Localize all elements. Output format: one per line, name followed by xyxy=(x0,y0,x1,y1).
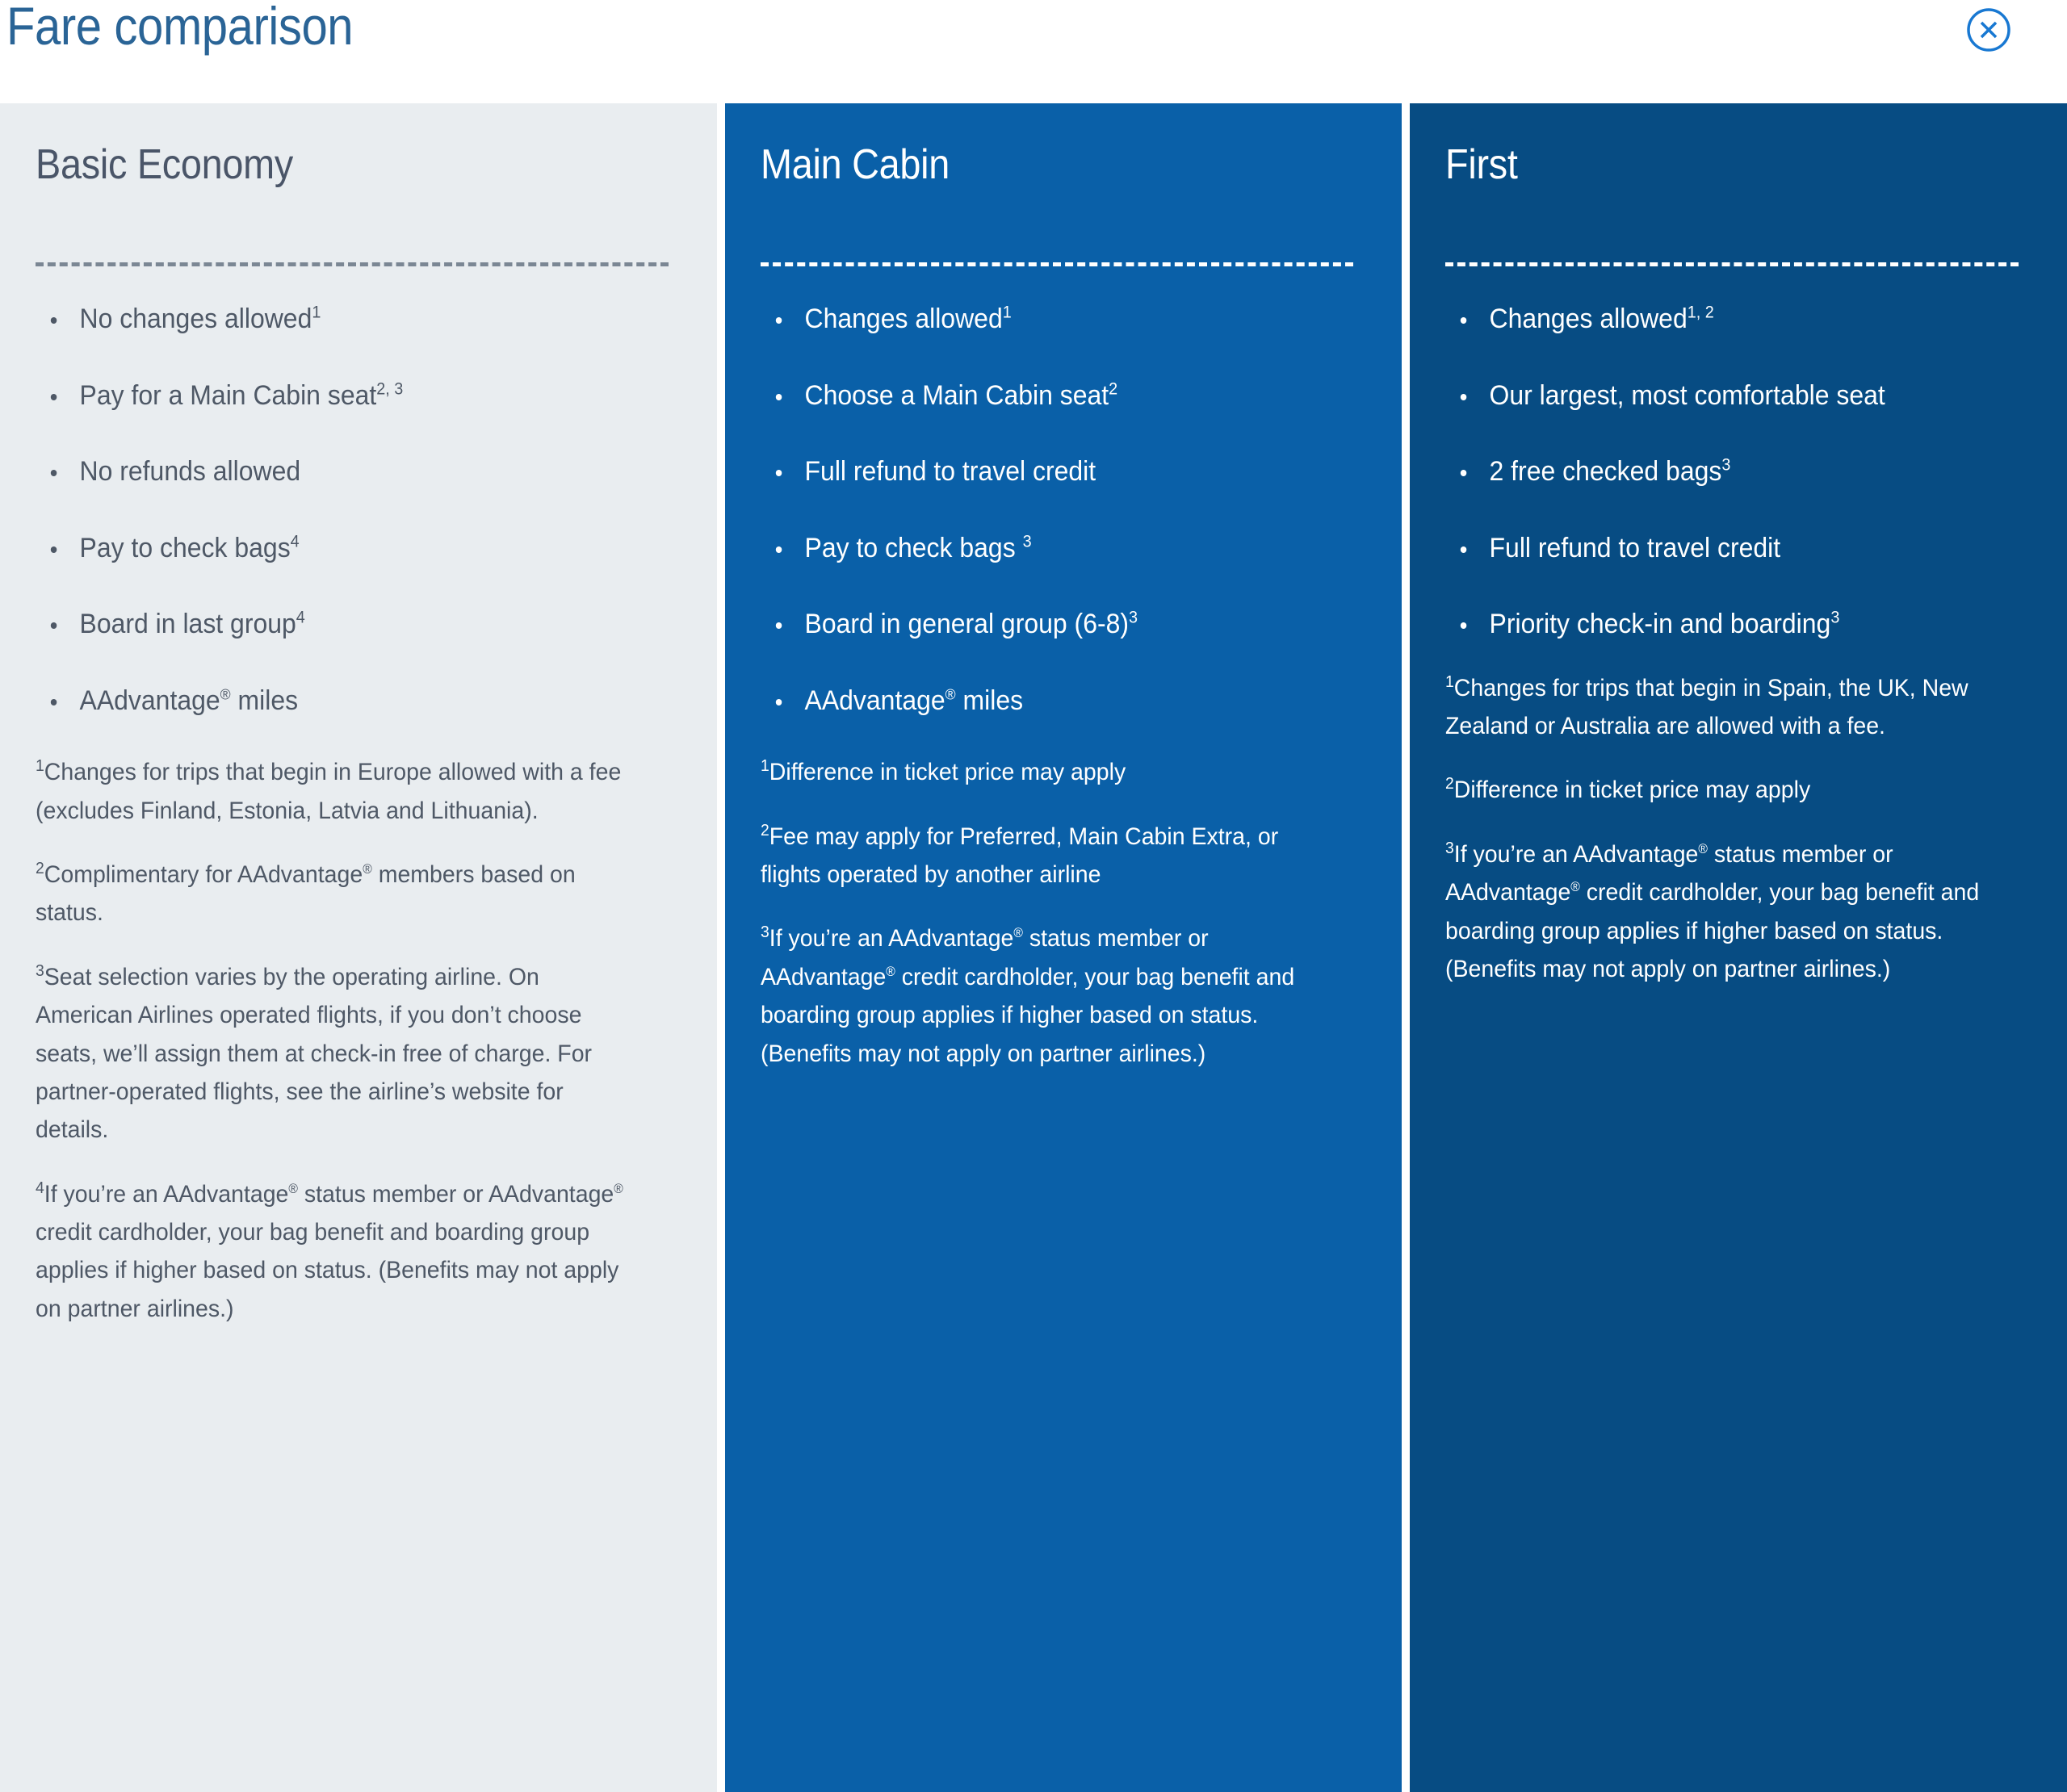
list-item: Changes allowed1, 2 xyxy=(1445,302,1984,337)
fare-column-title-basic-economy: Basic Economy xyxy=(36,142,606,188)
list-item: Choose a Main Cabin seat2 xyxy=(761,379,1318,413)
page-title: Fare comparison xyxy=(6,0,353,56)
footnote-marker: 3 xyxy=(1129,609,1138,627)
footnote-marker: 4 xyxy=(291,532,300,551)
list-item: AAdvantage® miles xyxy=(761,684,1318,718)
column-divider-first xyxy=(1445,262,2019,266)
footnote-marker: 3 xyxy=(1830,609,1839,627)
footnote-marker: 3 xyxy=(36,962,44,980)
list-item: No refunds allowed xyxy=(36,454,631,489)
footnote: 3Seat selection varies by the operating … xyxy=(36,958,637,1149)
list-item: No changes allowed1 xyxy=(36,302,631,337)
footnote-marker: 2 xyxy=(36,860,44,877)
footnote-marker: 2 xyxy=(1109,379,1117,398)
footnote: 3If you’re an AAdvantage® status member … xyxy=(761,919,1323,1073)
footnote-list-first: 1Changes for trips that begin in Spain, … xyxy=(1445,669,2019,989)
footnote: 4If you’re an AAdvantage® status member … xyxy=(36,1175,637,1329)
footnote: 1Changes for trips that begin in Spain, … xyxy=(1445,669,1990,746)
benefit-list-main-cabin: Changes allowed1 Choose a Main Cabin sea… xyxy=(761,302,1353,718)
list-item: Full refund to travel credit xyxy=(761,454,1318,489)
list-item: Our largest, most comfortable seat xyxy=(1445,379,1984,413)
footnote-marker: 4 xyxy=(296,609,305,627)
fare-column-first: First Changes allowed1, 2 Our largest, m… xyxy=(1410,103,2067,1792)
fare-comparison-modal: Fare comparison Basic Economy No changes… xyxy=(0,0,2067,1792)
footnote-marker: 1 xyxy=(312,304,321,322)
list-item: AAdvantage® miles xyxy=(36,684,631,718)
modal-header: Fare comparison xyxy=(0,0,2067,103)
list-item: Changes allowed1 xyxy=(761,302,1318,337)
footnote-list-main-cabin: 1Difference in ticket price may apply 2F… xyxy=(761,753,1353,1073)
footnote-marker: 1 xyxy=(1445,673,1454,691)
footnote: 1Changes for trips that begin in Europe … xyxy=(36,753,637,830)
column-divider-basic-economy xyxy=(36,262,669,266)
footnote: 2Complimentary for AAdvantage® members b… xyxy=(36,856,637,932)
list-item: Full refund to travel credit xyxy=(1445,531,1984,566)
close-button[interactable] xyxy=(1965,6,2012,53)
fare-column-main-cabin: Main Cabin Changes allowed1 Choose a Mai… xyxy=(725,103,1402,1792)
footnote-marker: 3 xyxy=(1721,456,1730,475)
list-item: Pay to check bags 3 xyxy=(761,531,1318,566)
fare-column-title-first: First xyxy=(1445,142,1961,188)
footnote-marker: 2, 3 xyxy=(376,379,403,398)
footnote: 2Difference in ticket price may apply xyxy=(1445,771,1990,809)
footnote-marker: 1 xyxy=(1003,304,1012,322)
footnote-marker: 2 xyxy=(1445,775,1454,793)
footnote: 1Difference in ticket price may apply xyxy=(761,753,1323,791)
footnote-marker: 1 xyxy=(761,757,769,775)
list-item: 2 free checked bags3 xyxy=(1445,454,1984,489)
footnote: 3If you’re an AAdvantage® status member … xyxy=(1445,835,1990,989)
footnote-marker: 4 xyxy=(36,1179,44,1197)
footnote-marker: 2 xyxy=(761,822,769,839)
column-divider-main-cabin xyxy=(761,262,1353,266)
benefit-list-first: Changes allowed1, 2 Our largest, most co… xyxy=(1445,302,2019,642)
fare-column-basic-economy: Basic Economy No changes allowed1 Pay fo… xyxy=(0,103,717,1792)
footnote-list-basic-economy: 1Changes for trips that begin in Europe … xyxy=(36,753,669,1328)
footnote-marker: 3 xyxy=(761,923,769,941)
footnote: 2Fee may apply for Preferred, Main Cabin… xyxy=(761,818,1323,894)
footnote-marker: 3 xyxy=(1445,839,1454,857)
fare-column-title-main-cabin: Main Cabin xyxy=(761,142,1294,188)
list-item: Board in general group (6-8)3 xyxy=(761,607,1318,642)
footnote-marker: 1, 2 xyxy=(1688,304,1714,322)
fare-columns: Basic Economy No changes allowed1 Pay fo… xyxy=(0,103,2067,1792)
list-item: Pay for a Main Cabin seat2, 3 xyxy=(36,379,631,413)
list-item: Pay to check bags4 xyxy=(36,531,631,566)
close-circle-icon xyxy=(1965,6,2012,53)
footnote-marker: 3 xyxy=(1023,532,1032,551)
footnote-marker: 1 xyxy=(36,757,44,775)
list-item: Priority check-in and boarding3 xyxy=(1445,607,1984,642)
list-item: Board in last group4 xyxy=(36,607,631,642)
benefit-list-basic-economy: No changes allowed1 Pay for a Main Cabin… xyxy=(36,302,669,718)
